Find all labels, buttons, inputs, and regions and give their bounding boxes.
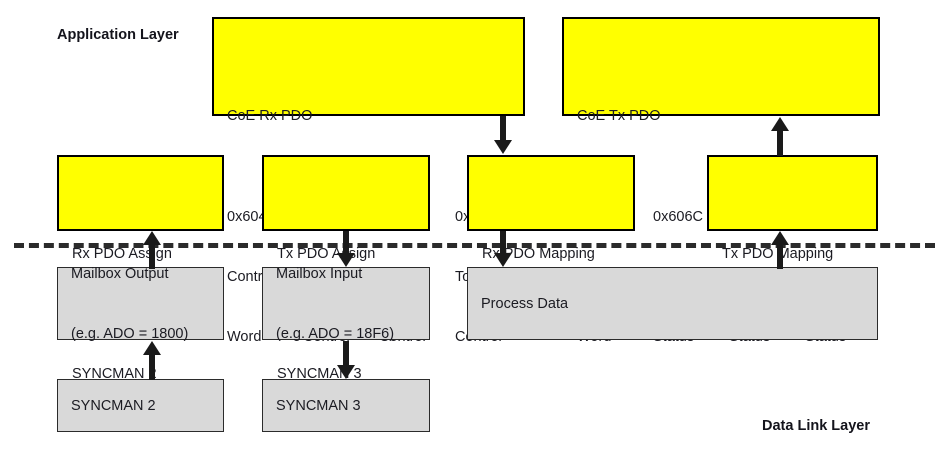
arrowhead-up-icon-tx-mapping — [771, 231, 789, 245]
connector-syncman2-to-mailbox-output — [149, 355, 155, 380]
arrowhead-down-icon-rx-mapping — [494, 140, 512, 154]
connector-mailbox-output-to-rx-assign — [149, 245, 155, 269]
arrowhead-down-icon-mailbox-input — [337, 253, 355, 267]
connector-rx-mapping-to-process-data — [500, 231, 506, 255]
syncman-2-box: SYNCMAN 2 — [57, 379, 224, 432]
ethercat-pdo-diagram: Application Layer Data Link Layer CoE Rx… — [0, 0, 947, 456]
arrowhead-up-icon-mailbox-output — [143, 341, 161, 355]
arrowhead-down-icon-process-data — [494, 253, 512, 267]
connector-coe-rx-to-rx-mapping — [500, 116, 506, 141]
process-data-box: Process Data — [467, 267, 878, 340]
syncman-3-title: SYNCMAN 3 — [276, 396, 361, 416]
syncman-3-box: SYNCMAN 3 — [262, 379, 430, 432]
mailbox-input-box: Mailbox Input (e.g. ADO = 18F6) — [262, 267, 430, 340]
coe-rx-pdo-box: CoE Rx PDO 0x6040 Control Word 0x60FF Ve… — [212, 17, 525, 116]
mailbox-input-detail: (e.g. ADO = 18F6) — [276, 324, 394, 344]
syncman-2-title: SYNCMAN 2 — [71, 396, 156, 416]
connector-process-data-to-tx-mapping — [777, 245, 783, 269]
connector-tx-mapping-to-coe-tx — [777, 130, 783, 156]
mailbox-input-title: Mailbox Input — [276, 264, 394, 284]
arrowhead-down-icon-syncman3 — [337, 365, 355, 379]
coe-tx-pdo-box: CoE Tx PDO 0x6041 Status Word 0x606C Vel… — [562, 17, 880, 116]
connector-tx-assign-to-mailbox-input — [343, 231, 349, 255]
coe-tx-pdo-title: CoE Tx PDO — [577, 106, 878, 126]
coe-rx-pdo-title: CoE Rx PDO — [227, 106, 523, 126]
arrowhead-up-icon-rx-assign — [143, 231, 161, 245]
mailbox-output-detail: (e.g. ADO = 1800) — [71, 324, 188, 344]
connector-mailbox-input-to-syncman3 — [343, 341, 349, 366]
application-layer-label: Application Layer — [57, 27, 179, 43]
tx-pdo-mapping-box: Tx PDO Mapping 0x1A00 — [707, 155, 878, 231]
process-data-title: Process Data — [481, 294, 568, 314]
tx-pdo-assign-box: Tx PDO Assign 0x1C13 SYNCMAN 3 — [262, 155, 430, 231]
arrowhead-up-icon-coe-tx — [771, 117, 789, 131]
mailbox-output-box: Mailbox Output (e.g. ADO = 1800) — [57, 267, 224, 340]
rx-pdo-mapping-box: Rx PDO Mapping 0x1600 — [467, 155, 635, 231]
mailbox-output-title: Mailbox Output — [71, 264, 188, 284]
rx-pdo-assign-box: Rx PDO Assign 0x1C12 SYNCMAN 2 — [57, 155, 224, 231]
